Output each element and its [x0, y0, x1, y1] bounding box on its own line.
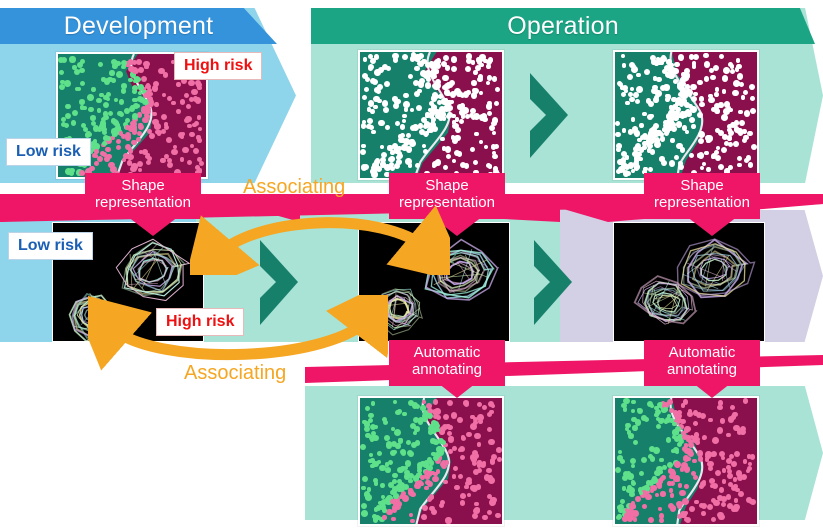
- header-operation: Operation: [311, 8, 815, 44]
- scatter-point: [666, 437, 671, 442]
- scatter-point: [654, 61, 658, 65]
- scatter-point: [482, 515, 488, 521]
- scatter-point: [677, 514, 682, 519]
- scatter-point: [470, 423, 477, 430]
- scatter-point: [737, 428, 742, 433]
- scatter-point: [628, 162, 634, 168]
- scatter-point: [639, 123, 643, 127]
- scatter-point: [471, 92, 477, 98]
- scatter-point: [635, 99, 640, 104]
- scatter-point: [733, 141, 739, 147]
- step-chevron-middle-right: [528, 240, 580, 325]
- scatter-point: [710, 75, 716, 81]
- scatter-point: [80, 81, 85, 86]
- scatter-point: [445, 424, 450, 429]
- scatter-point: [158, 68, 165, 75]
- scatter-point: [731, 485, 737, 491]
- scatter-point: [477, 468, 482, 473]
- scatter-point: [637, 408, 643, 414]
- scatter-point: [642, 112, 646, 116]
- scatter-point: [166, 137, 172, 143]
- scatter-point: [661, 475, 667, 481]
- scatter-point: [442, 75, 449, 82]
- scatter-point: [636, 73, 640, 77]
- scatter-point: [402, 54, 408, 60]
- scatter-point: [646, 98, 652, 104]
- scatter-point: [180, 157, 185, 162]
- scatter-point: [727, 135, 732, 140]
- scatter-point: [629, 97, 634, 102]
- scatter-point: [364, 87, 369, 92]
- scatter-point: [623, 407, 627, 411]
- scatter-point: [749, 500, 753, 504]
- banner-line2: annotating: [399, 361, 495, 378]
- scatter-point: [656, 77, 661, 82]
- scatter-point: [380, 483, 385, 488]
- scatter-point: [71, 120, 76, 125]
- scatter-point: [423, 124, 428, 129]
- scatter-point: [723, 67, 730, 74]
- scatter-point: [373, 478, 378, 483]
- scatter-point: [103, 95, 109, 101]
- scatter-point: [370, 109, 374, 113]
- scatter-point: [743, 135, 749, 141]
- scatter-point: [164, 122, 168, 126]
- scatter-point: [419, 78, 425, 84]
- scatter-point: [394, 148, 400, 154]
- scatter-point: [650, 149, 656, 155]
- scatter-point: [420, 405, 425, 410]
- scatter-point: [451, 57, 457, 63]
- scatter-point: [738, 110, 742, 114]
- scatter-point: [383, 107, 389, 113]
- scatter-point: [382, 64, 388, 70]
- scatter-point: [104, 78, 110, 84]
- scatter-point: [495, 513, 500, 518]
- banner-shape-representation-dev: Shape representation: [85, 173, 201, 219]
- scatter-point: [679, 86, 685, 92]
- scatter-point: [714, 92, 718, 96]
- scatter-point: [86, 132, 91, 137]
- scatter-point: [670, 473, 675, 478]
- scatter-point: [393, 493, 399, 499]
- scatter-point: [689, 117, 695, 123]
- scatter-point: [143, 117, 149, 123]
- scatter-point: [189, 132, 195, 138]
- shape-wireframe: [370, 280, 427, 337]
- scatter-point: [460, 493, 466, 499]
- scatter-point: [674, 461, 681, 468]
- scatter-point: [459, 446, 465, 452]
- scatter-point: [655, 90, 662, 97]
- scatter-point: [421, 59, 427, 65]
- scatter-point: [365, 433, 370, 438]
- callout-low-risk-top: Low risk: [6, 138, 91, 166]
- scatter-point: [384, 81, 390, 87]
- scatter-point: [486, 64, 490, 68]
- scatter-point: [697, 80, 702, 85]
- scatter-point: [685, 109, 691, 115]
- scatter-point: [443, 480, 448, 485]
- scatter-point: [87, 94, 94, 101]
- scatter-point: [453, 466, 458, 471]
- scatter-point: [670, 116, 674, 120]
- scatter-point: [477, 463, 481, 467]
- scatter-point: [385, 125, 390, 130]
- scatter-point: [398, 134, 403, 139]
- scatter-point: [669, 67, 676, 74]
- scatter-point: [744, 110, 751, 117]
- scatter-point: [621, 151, 627, 157]
- scatter-point: [382, 508, 386, 512]
- scatter-point: [370, 464, 375, 469]
- scatter-point: [748, 162, 754, 168]
- scatter-point: [425, 82, 431, 88]
- scatter-point: [429, 506, 435, 512]
- scatter-point: [436, 415, 441, 420]
- banner-line2: representation: [399, 194, 495, 211]
- scatter-point: [370, 168, 377, 175]
- scatter-point: [377, 99, 381, 103]
- scatter-point: [705, 454, 710, 459]
- scatter-point: [176, 82, 180, 86]
- scatter-point: [370, 424, 376, 430]
- scatter-point: [622, 128, 627, 133]
- shape-wireframe: [415, 237, 503, 310]
- banner-line2: annotating: [654, 361, 750, 378]
- scatter-point: [418, 417, 424, 423]
- scatter-point: [716, 146, 720, 150]
- scatter-point: [147, 129, 152, 134]
- scatter-point: [681, 98, 687, 104]
- scatter-point: [698, 131, 705, 138]
- scatter-point: [64, 80, 71, 87]
- scatter-point: [726, 465, 731, 470]
- scatter-point: [669, 488, 673, 492]
- scatter-point: [451, 412, 457, 418]
- header-development: Development: [0, 8, 277, 44]
- scatter-point: [433, 455, 439, 461]
- scatter-point: [191, 89, 197, 95]
- scatter-point: [371, 130, 376, 135]
- scatter-point: [128, 78, 133, 83]
- scatter-point: [188, 80, 195, 87]
- scatter-point: [632, 504, 637, 509]
- scatter-point: [496, 447, 502, 453]
- scatter-point: [492, 76, 497, 81]
- scatter-point: [474, 507, 479, 512]
- scatter-point: [648, 517, 654, 523]
- scatter-point: [361, 510, 368, 517]
- header-development-label: Development: [64, 12, 214, 41]
- scatter-point: [176, 109, 181, 114]
- scatter-point: [692, 64, 697, 69]
- scatter-point: [408, 163, 412, 167]
- scatter-point: [146, 83, 151, 88]
- scatter-point: [708, 466, 713, 471]
- scatter-point: [494, 144, 499, 149]
- step-chevron-middle-left: [254, 240, 306, 325]
- scatter-point: [392, 473, 397, 478]
- scatter-point: [99, 93, 103, 97]
- scatter-point: [722, 468, 726, 472]
- scatter-point: [133, 67, 137, 71]
- scatter-point: [741, 95, 746, 100]
- scatter-point: [388, 482, 394, 488]
- scatter-point: [707, 504, 713, 510]
- scatter-point: [633, 440, 638, 445]
- scatter-point: [391, 517, 395, 521]
- scatter-point: [620, 499, 625, 504]
- scatter-point: [750, 108, 756, 114]
- scatter-point: [473, 70, 478, 75]
- scatter-point: [370, 78, 376, 84]
- scatter-point: [408, 479, 412, 483]
- scatter-point: [135, 104, 139, 108]
- scatter-point: [655, 130, 661, 136]
- scatter-point: [706, 167, 711, 172]
- scatter-point: [396, 99, 401, 104]
- scatter-point: [682, 125, 687, 130]
- scatter-point: [361, 144, 365, 148]
- scatter-point: [712, 437, 719, 444]
- scatter-point: [689, 506, 695, 512]
- scatter-point: [679, 490, 686, 497]
- banner-automatic-annotating-2: Automatic annotating: [644, 340, 760, 386]
- scatter-point: [368, 66, 373, 71]
- scatter-point: [659, 518, 664, 523]
- scatter-point: [460, 455, 465, 460]
- scatter-point: [728, 416, 734, 422]
- scatter-point: [195, 80, 201, 86]
- banner-shape-representation-op2: Shape representation: [644, 173, 760, 219]
- scatter-point: [121, 88, 126, 93]
- scatter-point: [457, 151, 462, 156]
- scatter-point: [686, 457, 691, 462]
- scatter-point: [659, 458, 664, 463]
- scatter-point: [447, 105, 453, 111]
- scatter-point: [431, 420, 437, 426]
- scatter-point: [393, 506, 398, 511]
- scatter-point: [714, 103, 720, 109]
- scatter-point: [726, 494, 732, 500]
- scatter-point: [721, 114, 728, 121]
- scatter-point: [615, 132, 620, 137]
- scatter-point: [631, 117, 636, 122]
- scatter-point: [147, 88, 152, 93]
- scatter-point: [72, 65, 77, 70]
- scatter-point: [471, 80, 476, 85]
- scatter-point: [373, 105, 378, 110]
- scatter-point: [439, 503, 444, 508]
- scatter-point: [479, 54, 485, 60]
- scatter-point: [663, 84, 669, 90]
- callout-high-risk-middle: High risk: [156, 308, 244, 336]
- scatter-point: [396, 159, 402, 165]
- scatter-point: [410, 423, 416, 429]
- scatter-point: [374, 507, 379, 512]
- scatter-point: [654, 478, 658, 482]
- scatter-point: [438, 449, 444, 455]
- scatter-point: [466, 90, 471, 95]
- scatter-point: [193, 148, 199, 154]
- scatter-point: [482, 117, 487, 122]
- scatter-point: [715, 109, 720, 114]
- scatter-point: [152, 119, 158, 125]
- scatter-point: [415, 483, 421, 489]
- scatter-point: [365, 406, 370, 411]
- scatter-point: [704, 76, 709, 81]
- scatter-point: [717, 427, 724, 434]
- scatter-point: [660, 491, 665, 496]
- scatter-point: [648, 137, 653, 142]
- scatter-point: [492, 117, 499, 124]
- step-chevron-top: [524, 73, 576, 158]
- scatter-point: [644, 417, 649, 422]
- scatter-point: [370, 58, 376, 64]
- banner-line1: Shape: [95, 177, 191, 194]
- scatter-point: [152, 85, 158, 91]
- scatter-point: [148, 98, 153, 103]
- scatter-point: [687, 411, 693, 417]
- scatter-point: [734, 498, 739, 503]
- scatter-point: [723, 108, 730, 115]
- scatter-point: [109, 70, 114, 75]
- scatter-point: [466, 432, 472, 438]
- scatter-point: [154, 102, 159, 107]
- scatter-point: [746, 469, 750, 473]
- scatter-point: [386, 509, 393, 516]
- scatter-point: [487, 510, 492, 515]
- scatter-point: [479, 63, 483, 67]
- scatter-point: [699, 102, 704, 107]
- scatter-point: [479, 91, 483, 95]
- scatter-point: [749, 84, 755, 90]
- scatter-point: [366, 124, 371, 129]
- scatter-point: [494, 101, 499, 106]
- scatter-point: [479, 140, 483, 144]
- scatter-point: [698, 152, 704, 158]
- scatter-point: [497, 457, 502, 462]
- scatter-point: [171, 149, 177, 155]
- scatter-point: [91, 87, 95, 91]
- scatter-point: [680, 147, 685, 152]
- scatter-point: [435, 79, 441, 85]
- scatter-point: [670, 138, 674, 142]
- scatter-point: [187, 124, 191, 128]
- scatter-point: [460, 500, 465, 505]
- scatter-point: [718, 514, 724, 520]
- scatter-point: [131, 140, 136, 145]
- scatter-point: [94, 149, 99, 154]
- scatter-point: [457, 417, 463, 423]
- scatter-point: [648, 454, 653, 459]
- scatter-point: [378, 120, 385, 127]
- scatter-point: [125, 125, 130, 130]
- scatter-point: [726, 433, 730, 437]
- scatter-point: [632, 425, 637, 430]
- scatter-point: [380, 161, 387, 168]
- banner-line2: representation: [95, 194, 191, 211]
- scatter-point: [425, 480, 431, 486]
- scatter-card-annotated-2: [613, 396, 759, 526]
- scatter-point: [167, 96, 172, 101]
- scatter-point: [628, 487, 634, 493]
- scatter-point: [659, 513, 665, 519]
- scatter-point: [631, 66, 638, 73]
- scatter-point: [385, 467, 391, 473]
- scatter-point: [686, 89, 693, 96]
- scatter-point: [464, 485, 469, 490]
- scatter-point: [678, 54, 684, 60]
- scatter-point: [362, 73, 368, 79]
- scatter-point: [372, 435, 378, 441]
- scatter-point: [360, 444, 366, 450]
- scatter-point: [719, 54, 724, 59]
- scatter-point: [472, 88, 477, 93]
- shape-wireframe: [65, 286, 117, 342]
- scatter-point: [161, 129, 166, 134]
- scatter-point: [442, 146, 447, 151]
- scatter-point: [467, 480, 472, 485]
- scatter-point: [403, 495, 408, 500]
- scatter-point: [424, 470, 429, 475]
- scatter-point: [709, 68, 714, 73]
- scatter-point: [701, 511, 706, 516]
- scatter-point: [722, 75, 729, 82]
- scatter-point: [642, 504, 647, 509]
- scatter-point: [422, 505, 428, 511]
- scatter-point: [661, 55, 666, 60]
- scatter-point: [382, 515, 387, 520]
- scatter-point: [368, 418, 373, 423]
- scatter-point: [361, 503, 367, 509]
- scatter-point: [132, 113, 139, 120]
- scatter-point: [65, 104, 70, 109]
- scatter-point: [470, 147, 475, 152]
- scatter-point: [180, 99, 185, 104]
- associating-label-bottom: Associating: [184, 362, 286, 385]
- scatter-point: [734, 451, 740, 457]
- scatter-point: [721, 502, 726, 507]
- scatter-card-operation-1: [358, 50, 504, 180]
- scatter-point: [125, 132, 131, 138]
- scatter-point: [669, 160, 675, 166]
- scatter-point: [434, 59, 440, 65]
- scatter-point: [486, 468, 492, 474]
- scatter-point: [678, 161, 683, 166]
- scatter-point: [402, 114, 407, 119]
- scatter-point: [451, 114, 455, 118]
- scatter-point: [474, 502, 478, 506]
- scatter-point: [69, 56, 75, 62]
- scatter-point: [691, 124, 695, 128]
- scatter-point: [737, 73, 743, 79]
- scatter-point: [627, 473, 633, 479]
- scatter-point: [384, 435, 390, 441]
- scatter-point: [61, 57, 67, 63]
- shape-wireframe: [630, 274, 703, 331]
- scatter-point: [138, 91, 142, 95]
- scatter-point: [103, 102, 109, 108]
- scatter-point: [454, 485, 459, 490]
- banner-line1: Shape: [399, 177, 495, 194]
- scatter-point: [422, 144, 426, 148]
- scatter-point: [465, 66, 471, 72]
- banner-line2: representation: [654, 194, 750, 211]
- scatter-point: [681, 72, 686, 77]
- scatter-point: [429, 61, 434, 66]
